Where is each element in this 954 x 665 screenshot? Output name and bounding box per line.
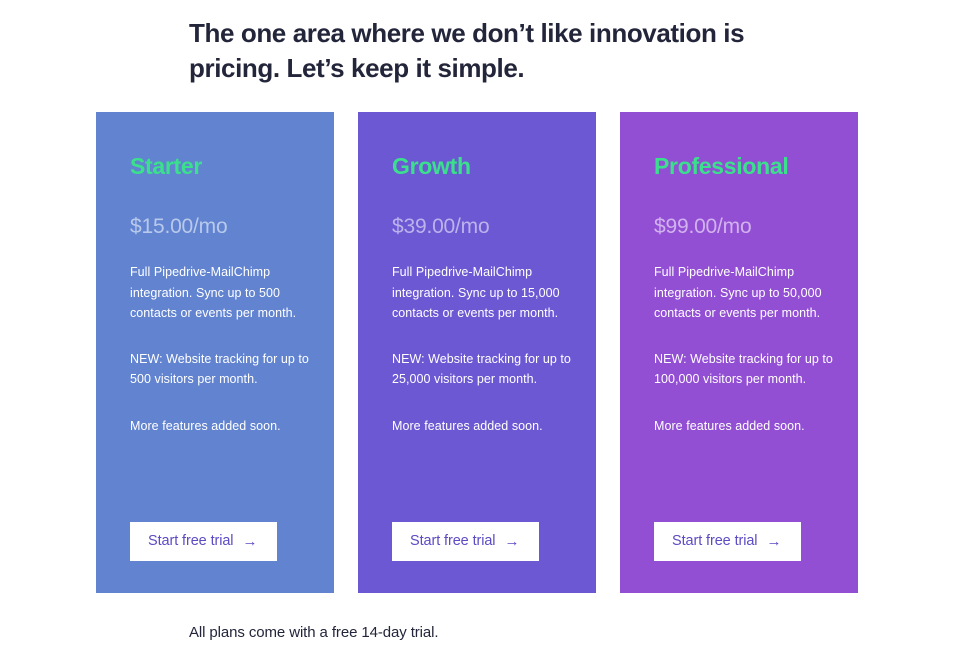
start-free-trial-button-starter[interactable]: Start free trial → bbox=[130, 522, 277, 561]
cta-label: Start free trial bbox=[410, 533, 495, 549]
arrow-right-icon: → bbox=[504, 534, 519, 549]
cta-wrapper-starter: Start free trial → bbox=[130, 522, 277, 561]
plan-title-growth: Growth bbox=[392, 154, 574, 179]
feature-item: More features added soon. bbox=[654, 416, 836, 436]
feature-item: NEW: Website tracking for up to 100,000 … bbox=[654, 349, 836, 390]
start-free-trial-button-growth[interactable]: Start free trial → bbox=[392, 522, 539, 561]
cta-wrapper-professional: Start free trial → bbox=[654, 522, 801, 561]
plan-price-growth: $39.00/mo bbox=[392, 215, 574, 238]
cta-label: Start free trial bbox=[148, 533, 233, 549]
plan-title-professional: Professional bbox=[654, 154, 836, 179]
cta-wrapper-growth: Start free trial → bbox=[392, 522, 539, 561]
plan-features-starter: Full Pipedrive-MailChimp integration. Sy… bbox=[130, 262, 312, 436]
page-headline: The one area where we don’t like innovat… bbox=[189, 16, 809, 85]
pricing-page: The one area where we don’t like innovat… bbox=[0, 0, 954, 665]
start-free-trial-button-professional[interactable]: Start free trial → bbox=[654, 522, 801, 561]
pricing-cards-row: Starter $15.00/mo Full Pipedrive-MailChi… bbox=[96, 112, 858, 593]
feature-item: More features added soon. bbox=[392, 416, 574, 436]
feature-item: NEW: Website tracking for up to 500 visi… bbox=[130, 349, 312, 390]
feature-item: Full Pipedrive-MailChimp integration. Sy… bbox=[654, 262, 836, 323]
feature-item: Full Pipedrive-MailChimp integration. Sy… bbox=[130, 262, 312, 323]
arrow-right-icon: → bbox=[242, 534, 257, 549]
plan-price-starter: $15.00/mo bbox=[130, 215, 312, 238]
plan-features-growth: Full Pipedrive-MailChimp integration. Sy… bbox=[392, 262, 574, 436]
pricing-card-growth[interactable]: Growth $39.00/mo Full Pipedrive-MailChim… bbox=[358, 112, 596, 593]
feature-item: NEW: Website tracking for up to 25,000 v… bbox=[392, 349, 574, 390]
plan-features-professional: Full Pipedrive-MailChimp integration. Sy… bbox=[654, 262, 836, 436]
feature-item: More features added soon. bbox=[130, 416, 312, 436]
plan-title-starter: Starter bbox=[130, 154, 312, 179]
arrow-right-icon: → bbox=[766, 534, 781, 549]
pricing-card-professional[interactable]: Professional $99.00/mo Full Pipedrive-Ma… bbox=[620, 112, 858, 593]
cta-label: Start free trial bbox=[672, 533, 757, 549]
feature-item: Full Pipedrive-MailChimp integration. Sy… bbox=[392, 262, 574, 323]
plan-price-professional: $99.00/mo bbox=[654, 215, 836, 238]
pricing-card-starter[interactable]: Starter $15.00/mo Full Pipedrive-MailChi… bbox=[96, 112, 334, 593]
trial-footnote: All plans come with a free 14-day trial. bbox=[189, 624, 438, 641]
